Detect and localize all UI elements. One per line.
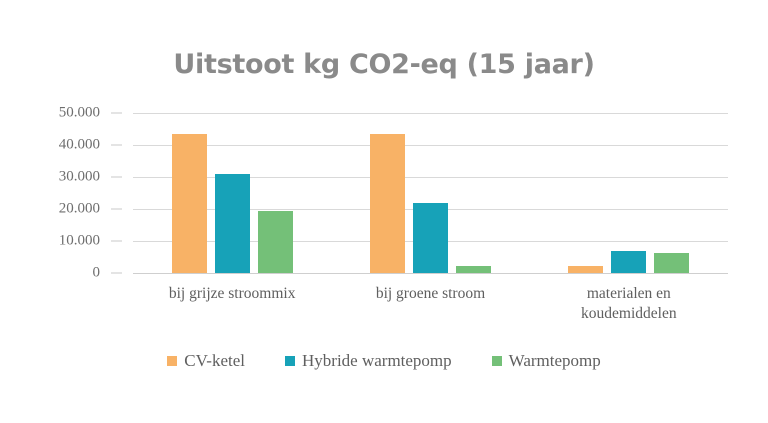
bar	[215, 174, 250, 273]
y-axis-tick-label: 30.000	[59, 169, 100, 186]
x-axis-category-label-line: materialen en	[530, 284, 728, 304]
y-axis-tick-mark	[111, 209, 122, 210]
bar	[258, 211, 293, 273]
y-axis-tick-mark	[111, 177, 122, 178]
chart-title: Uitstoot kg CO2-eq (15 jaar)	[0, 49, 768, 80]
plot-area	[133, 113, 728, 273]
x-axis-category-label-line: koudemiddelen	[530, 304, 728, 324]
bar	[370, 134, 405, 273]
legend-color-swatch	[492, 356, 502, 366]
bar-group	[530, 113, 728, 273]
bar	[611, 251, 646, 273]
y-axis-tick-mark	[111, 113, 122, 114]
legend-item[interactable]: CV-ketel	[167, 351, 245, 371]
legend-color-swatch	[285, 356, 295, 366]
legend-label: CV-ketel	[184, 351, 245, 371]
y-axis-tick-label: 20.000	[59, 201, 100, 218]
bar-chart: Uitstoot kg CO2-eq (15 jaar) 010.00020.0…	[0, 0, 768, 423]
legend-item[interactable]: Warmtepomp	[492, 351, 601, 371]
bar	[413, 203, 448, 273]
legend-label: Warmtepomp	[509, 351, 601, 371]
y-axis-tick-mark	[111, 145, 122, 146]
y-axis-tick-mark	[111, 241, 122, 242]
x-axis-category-label-line: bij groene stroom	[331, 284, 529, 304]
bar	[568, 266, 603, 273]
gridline	[133, 273, 728, 274]
bar	[654, 253, 689, 273]
chart-legend: CV-ketelHybride warmtepompWarmtepomp	[0, 351, 768, 371]
x-axis-category-label: materialen enkoudemiddelen	[530, 284, 728, 324]
legend-color-swatch	[167, 356, 177, 366]
y-axis-tick-label: 0	[93, 265, 101, 282]
bar	[456, 266, 491, 273]
bar-group	[133, 113, 331, 273]
bar-group	[331, 113, 529, 273]
y-axis-tick-label: 50.000	[59, 105, 100, 122]
bar	[172, 134, 207, 273]
y-axis-tick-mark	[111, 273, 122, 274]
legend-label: Hybride warmtepomp	[302, 351, 452, 371]
y-axis: 010.00020.00030.00040.00050.000	[0, 113, 122, 273]
y-axis-tick-label: 40.000	[59, 137, 100, 154]
y-axis-tick-label: 10.000	[59, 233, 100, 250]
x-axis-category-label: bij groene stroom	[331, 284, 529, 304]
legend-item[interactable]: Hybride warmtepomp	[285, 351, 452, 371]
x-axis-category-label: bij grijze stroommix	[133, 284, 331, 304]
x-axis-category-label-line: bij grijze stroommix	[133, 284, 331, 304]
